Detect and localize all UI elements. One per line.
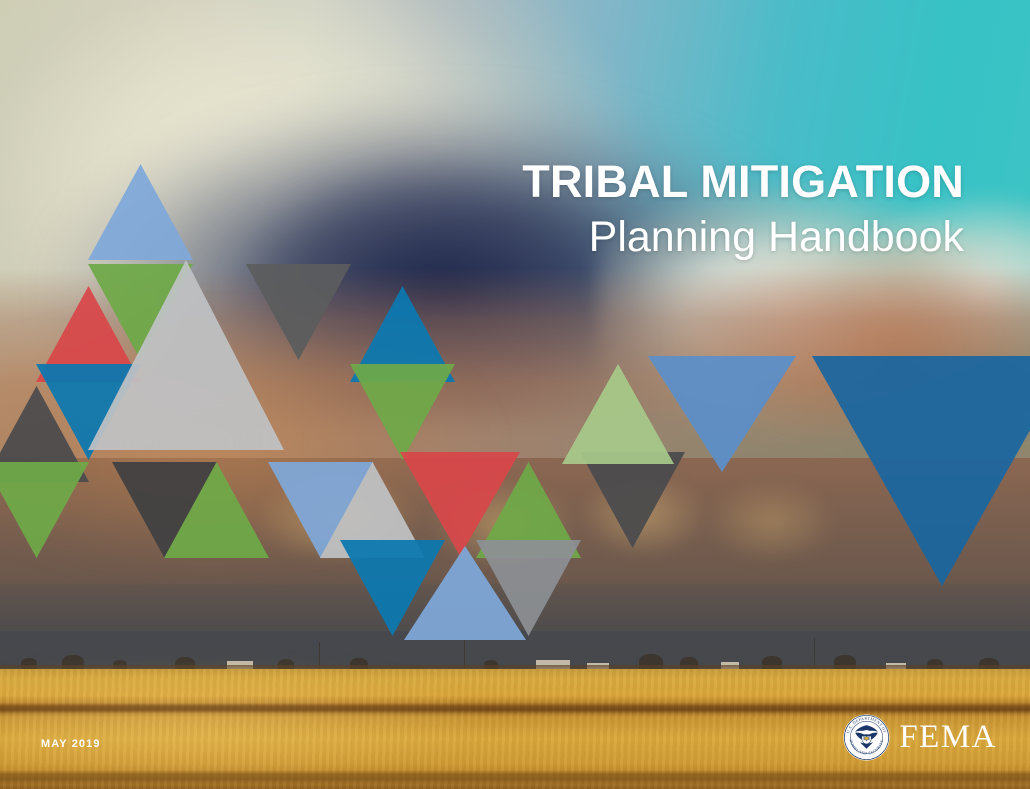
fema-logo-lockup: U.S. DEPARTMENT OF HOMELAND SECURITY FEM… xyxy=(843,714,997,761)
publication-date: MAY 2019 xyxy=(41,738,101,750)
cover-photograph xyxy=(0,0,1030,789)
page-subtitle: Planning Handbook xyxy=(522,213,964,261)
dhs-seal-icon: U.S. DEPARTMENT OF HOMELAND SECURITY xyxy=(843,714,890,761)
document-cover: TRIBAL MITIGATION Planning Handbook MAY … xyxy=(0,0,1030,789)
dust-billows xyxy=(247,458,886,568)
warm-glow-right xyxy=(639,237,1030,442)
page-title: TRIBAL MITIGATION xyxy=(522,158,964,207)
fema-wordmark: FEMA xyxy=(899,721,997,754)
title-block: TRIBAL MITIGATION Planning Handbook xyxy=(522,158,964,261)
